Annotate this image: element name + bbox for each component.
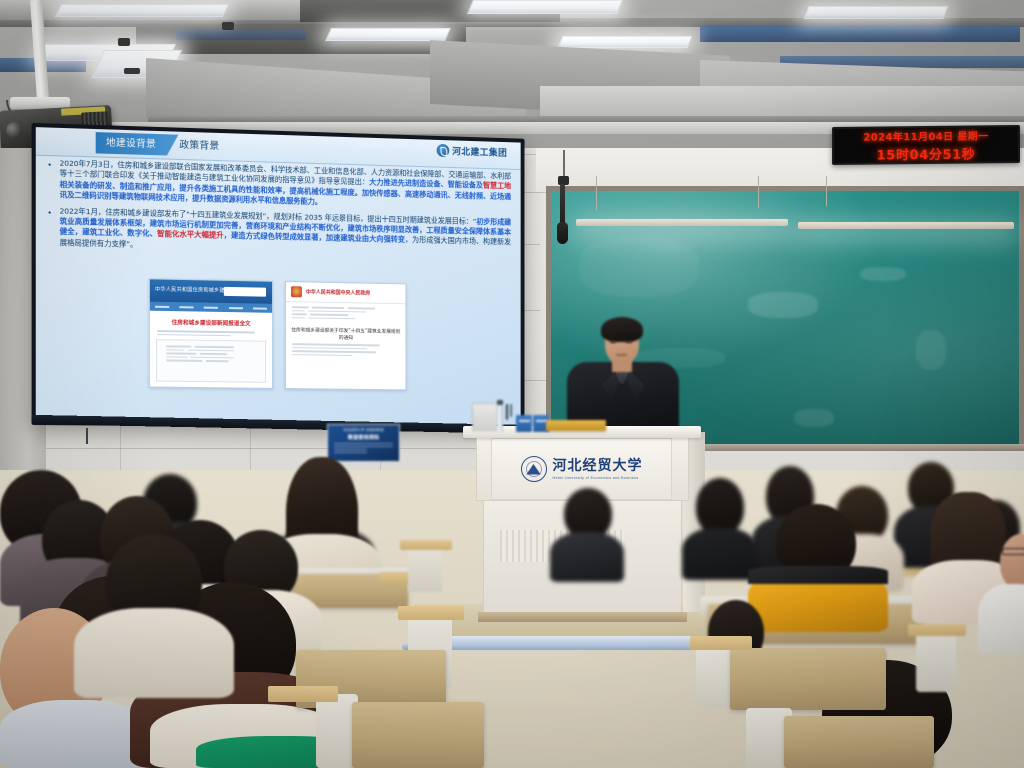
projection-screen: 地建设背景 政策背景 河北建工集团 • 2020年7月3日，住房和城乡建设部联合… [32,123,525,429]
university-name: 河北经贸大学 [553,459,643,473]
blue-box [516,415,532,432]
nameplate [546,420,606,431]
notice-subheading: 河北经贸大学 多媒体教室 [328,428,399,433]
thumbnail-doc-title: 住房和城乡建设部关于印发“十四五”建筑业发展规划的通知 [290,326,402,342]
seat-frame [916,630,956,692]
microphone-wire [563,150,565,178]
desk-surface [908,624,966,636]
lectern-foot [478,612,687,622]
thumbnail-gov-document: 中华人民共和国中央人民政府 住房和城乡建设部关于印发“十四五”建筑业发展规划的通… [285,281,406,390]
ceiling-sensor-icon [222,22,234,30]
led-clock-display: 2024年11月04日 星期一 15时04分51秒 [832,125,1020,165]
lecture-hall-photo: 地建设背景 政策背景 河北建工集团 • 2020年7月3日，住房和城乡建设部联合… [0,0,1024,768]
ceiling-sensor-icon [118,38,130,46]
pen [510,404,512,417]
hanging-microphone [560,184,565,226]
lecturer-hair [601,317,643,342]
led-clock-time: 15时04分51秒 [877,143,976,163]
slide-logo: 河北建工集团 [437,144,508,159]
laptop [472,403,498,431]
bullet-text: 2022年1月，住房和城乡建设部发布了“十四五建筑业发展规划”，规划对标 203… [60,206,511,258]
projector-lens-icon [6,122,23,139]
thumbnail-search-box [224,287,266,297]
bullet-segment-emphasis: 智能化水平大幅提升 [157,229,224,240]
slide-logo-text: 河北建工集团 [452,144,507,158]
desk-surface [400,540,452,550]
slide-tab-inactive: 政策背景 [179,136,219,156]
seat [730,648,886,710]
slide-tab-active: 地建设背景 [96,132,179,156]
water-bottle [497,404,503,432]
presentation-slide: 地建设背景 政策背景 河北建工集团 • 2020年7月3日，住房和城乡建设部联合… [36,127,521,425]
pen [506,404,508,420]
screen-drop-wire [86,428,88,444]
university-subtitle: Hebei University of Economics and Busine… [553,476,639,480]
thumbnail-site-title: 中华人民共和国中央人民政府 [306,288,370,296]
desk-surface [690,636,752,650]
blackboard-light [576,219,788,226]
bottle-cap [497,400,503,405]
seat [784,716,934,768]
thumbnail-content-box [156,339,266,383]
bullet-marker: • [48,158,59,201]
national-emblem-icon [291,286,302,297]
eyeglasses-icon [1002,548,1024,555]
board-light-wire [758,176,759,208]
slide-body: • 2020年7月3日，住房和城乡建设部联合国家发展和改革委员会、科学技术部、工… [48,158,511,263]
seat [352,702,484,768]
company-logo-icon [437,144,450,157]
slide-thumbnails: 中华人民共和国住房和城乡建设部 住房和城乡建设部新闻报道全文 [149,278,407,390]
desk-surface [268,686,338,702]
thumbnail-site-header: 中华人民共和国住房和城乡建设部 [150,279,272,303]
bullet-segment-emphasis: 智慧工地 [483,181,511,191]
board-light-wire [826,176,827,206]
board-light-wire [596,176,597,210]
slide-bullet: • 2022年1月，住房和城乡建设部发布了“十四五建筑业发展规划”，规划对标 2… [48,206,511,259]
thumbnail-doc-title: 住房和城乡建设部新闻报道全文 [156,318,266,328]
desk-surface [398,606,464,620]
seat-frame [408,544,442,592]
lecturer-eye [610,341,616,343]
notice-heading: 教室使用须知 [328,434,399,441]
microphone-head-icon [557,222,568,244]
blackboard-light [798,222,1014,229]
bullet-marker: • [48,206,59,249]
ceiling-speaker-icon [124,68,140,74]
thumbnail-site-header: 中华人民共和国中央人民政府 [286,282,405,304]
lecturer-eye [626,341,632,343]
lecturer-mouth [616,354,627,356]
led-clock-date: 2024年11月04日 星期一 [863,127,988,143]
thumbnail-mohurd-website: 中华人民共和国住房和城乡建设部 住房和城乡建设部新闻报道全文 [149,278,273,389]
notice-board: 河北经贸大学 多媒体教室 教室使用须知 [327,424,400,462]
university-seal-icon [521,456,547,482]
